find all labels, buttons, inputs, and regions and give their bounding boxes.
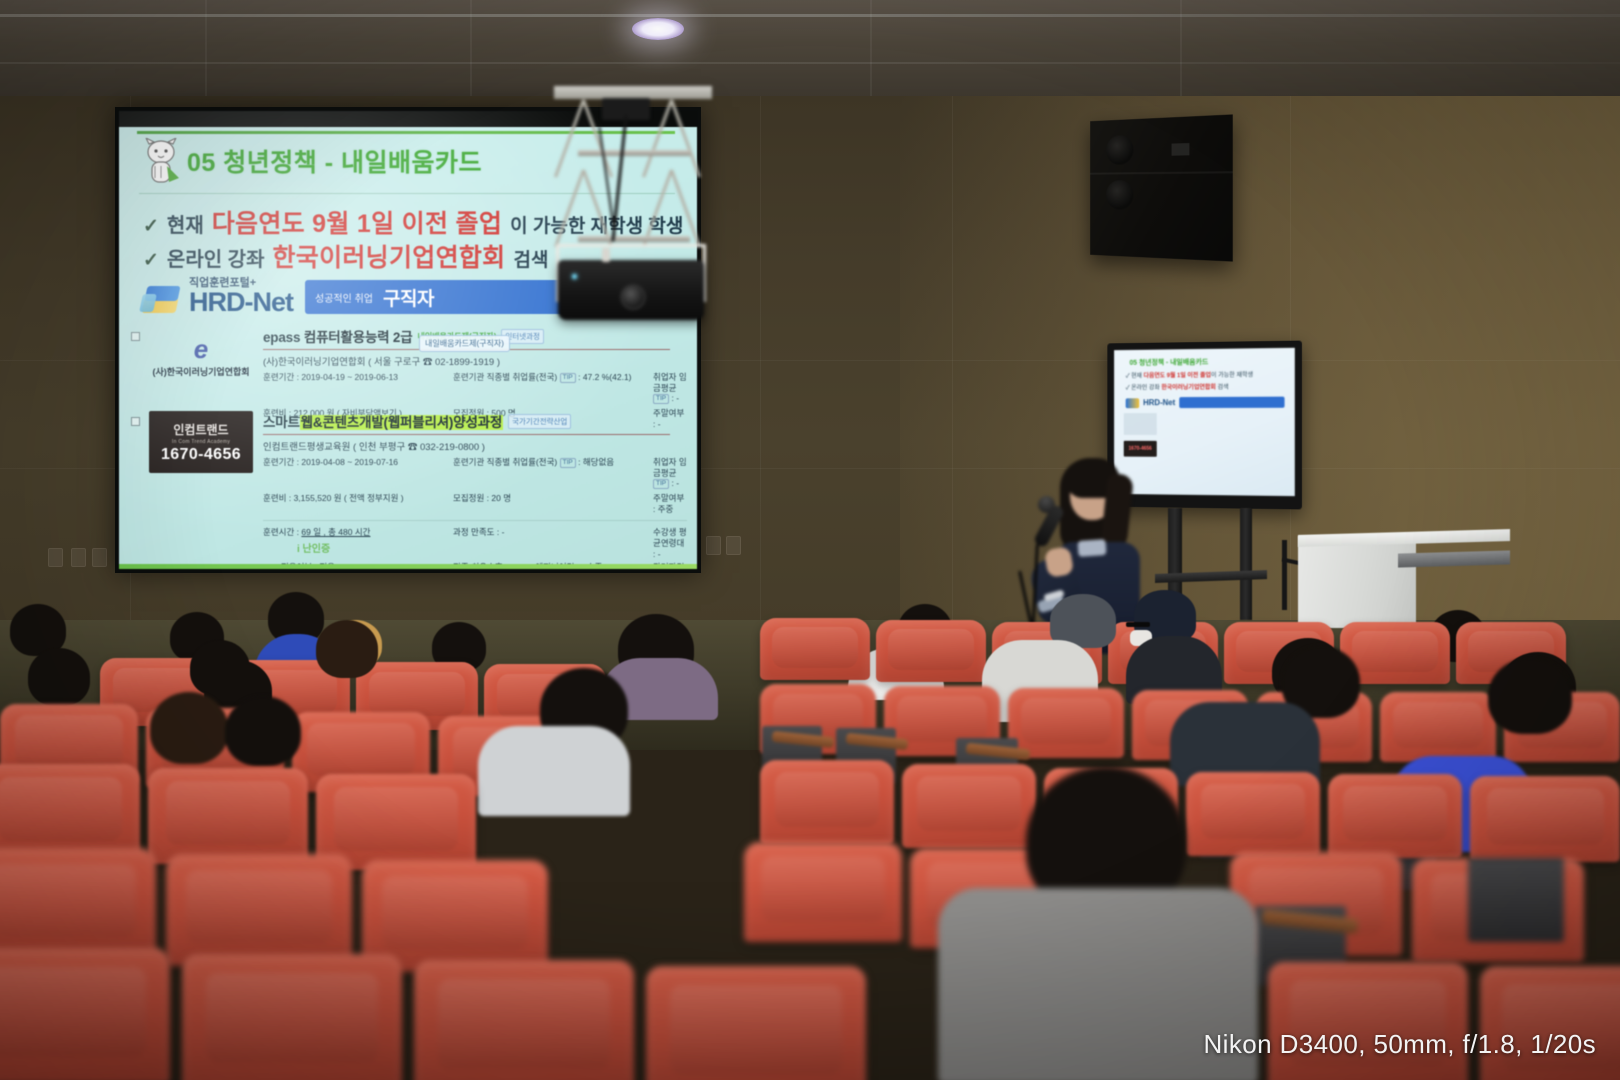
tip-icon[interactable]: TIP (560, 373, 576, 383)
wall-switch[interactable] (726, 536, 741, 555)
audience-head (225, 696, 301, 766)
hrd-banner-small: 성공적인 취업 (315, 290, 373, 305)
bullet-pre: 현재 (167, 209, 204, 238)
course-title-pre: 스마트 (263, 415, 300, 430)
course-field: 수강생 평균연령대 : - (653, 527, 687, 559)
course-field-label: 취업자 임금평균 (653, 372, 687, 393)
bullet-post: 검색 (514, 245, 549, 272)
mount-crossbar (578, 150, 690, 156)
ceiling (0, 0, 1620, 96)
ceiling-projector (558, 260, 704, 320)
projector-status-led (572, 274, 577, 279)
seat[interactable] (1328, 774, 1462, 858)
course-field: 훈련비 : 3,155,520 원 ( 전액 정부지원 ) (263, 493, 453, 514)
course-organization: 인컴트랜드평생교육원 ( 인천 부평구 ☎ 032-219-0800 ) (263, 439, 687, 453)
wall-switch[interactable] (48, 548, 63, 567)
tiger-mascot-icon (139, 138, 183, 184)
seat[interactable] (0, 948, 170, 1080)
seat[interactable] (1480, 966, 1620, 1080)
wall-panel-line (952, 96, 953, 671)
course-field-label: 모집정원 (453, 493, 484, 503)
slide-title-number: 05 (187, 149, 216, 177)
course-field-value: 주중 (658, 504, 674, 514)
course-field-value: 해당없음 (583, 457, 614, 467)
ceiling-panel-line (470, 0, 472, 96)
course-tag-box: 국가기간전략산업 (508, 414, 571, 429)
course-field: 훈련기관 직종별 취업률(전국) TIP : 해당없음 (453, 457, 653, 489)
course-provider-phone: 1670-4656 (161, 446, 241, 464)
course-checkbox[interactable] (131, 332, 140, 341)
mount-crossbar (578, 236, 690, 242)
course-field-value: 2019-04-19 ~ 2019-06-13 (301, 372, 398, 382)
course-field-label: 취업자 임금평균 (653, 457, 687, 478)
course-title[interactable]: 스마트웹&콘텐츠개발(웹퍼블리셔)양성과정 (263, 411, 503, 431)
course-provider-name: 인컴트랜드 (173, 421, 228, 438)
recessed-downlight-icon (632, 18, 684, 40)
audience-head (150, 692, 228, 764)
seat[interactable] (1380, 692, 1496, 762)
epass-e-icon: e (194, 336, 208, 362)
course-title-pre: epass (263, 330, 300, 345)
course-field: 주말여부 : 주중 (653, 493, 687, 514)
camera-info-watermark: Nikon D3400, 50mm, f/1.8, 1/20s (1204, 1029, 1597, 1060)
ceiling-panel-line (870, 0, 872, 96)
course-field-grid: 훈련기간 : 2019-04-08 ~ 2019-07-16 훈련기관 직종별 … (263, 457, 687, 514)
speaker-brand-plate (1172, 143, 1190, 156)
seat[interactable] (902, 764, 1036, 848)
check-icon: ✓ (143, 215, 159, 238)
seat[interactable] (876, 620, 986, 682)
hrd-net-mark-icon (1126, 398, 1140, 408)
course-field-value: - (676, 478, 679, 488)
course-title-main: 컴퓨터활용능력 2급 (304, 330, 413, 345)
ceiling-seam-secondary (0, 62, 1620, 64)
seat[interactable] (148, 768, 308, 864)
course-field-value: - (658, 549, 661, 559)
incomtrend-logo: 인컴트랜드 In Com Trend Academy 1670-4656 (149, 411, 253, 473)
slide-footer-brand: i 난인증 (297, 540, 330, 555)
seat[interactable] (760, 760, 894, 844)
course-organization: (사)한국이러닝기업연합회 ( 서울 구로구 ☎ 02-1899-1919 ) (263, 354, 687, 368)
scissor-arm (554, 99, 585, 177)
course-field-label: 주말여부 (653, 493, 684, 503)
course-checkbox[interactable] (131, 417, 140, 426)
seat[interactable] (1470, 776, 1620, 862)
ceiling-seam (0, 14, 1620, 17)
hrd-net-mark-icon (141, 282, 183, 316)
wall-switch[interactable] (92, 548, 107, 567)
course-field: 과정 만족도 : - (453, 527, 653, 559)
check-icon: ✓ (143, 249, 159, 272)
course-field-label: 훈련기간 (263, 372, 294, 382)
tip-icon[interactable]: TIP (560, 458, 576, 468)
display-bullet: ✓ 온라인 강좌 한국이러닝기업연합회 검색 (1114, 378, 1295, 391)
course-field-label: 과정 만족도 (453, 527, 494, 537)
ceiling-panel-line (1180, 0, 1182, 96)
speaker-driver-icon (1106, 180, 1133, 209)
projector-mount-knob (602, 248, 610, 262)
course-field-label: 훈련시간 (263, 527, 294, 537)
wall-switch[interactable] (71, 548, 86, 567)
course-field: 훈련기간 : 2019-04-08 ~ 2019-07-16 (263, 457, 453, 489)
course-field-value: 3,155,520 원 ( 전액 정부지원 ) (294, 493, 404, 503)
course-field: 취업자 임금평균 TIP : - (653, 372, 687, 404)
bullet-highlight: 한국이러닝기업연합회 (272, 238, 505, 274)
projector-lens-icon (620, 284, 646, 310)
audience-shoulders (478, 726, 630, 816)
display-provider-logo (1124, 413, 1157, 435)
slide-title-text: 청년정책 - 내일배움카드 (223, 149, 482, 177)
course-field-label: 훈련기간 (263, 457, 294, 467)
bullet-pre: 온라인 강좌 (167, 243, 265, 272)
course-field: 훈련기간 : 2019-04-19 ~ 2019-06-13 (263, 372, 453, 404)
seat[interactable] (744, 842, 902, 942)
epass-logo: e (사)한국이러닝기업연합회 (149, 326, 253, 388)
tip-icon[interactable]: TIP (653, 394, 669, 404)
audience-head (316, 620, 378, 678)
slide-title-row: 05 청년정책 - 내일배움카드 (139, 138, 482, 184)
wall-panel-line (760, 96, 761, 671)
course-field-label: 수강생 평균연령대 (653, 527, 687, 548)
course-field: 훈련시간 : 69 일 , 총 480 시간 (263, 527, 453, 559)
seat[interactable] (760, 618, 870, 680)
tip-icon[interactable]: TIP (653, 479, 669, 489)
display-result-list: 1670-4656 (1124, 413, 1285, 458)
seat[interactable] (1268, 962, 1468, 1080)
display-hrd-name: HRD-Net (1143, 398, 1175, 407)
course-title-main: 웹&콘텐츠개발(웹퍼블리셔)양성과정 (300, 415, 503, 430)
course-field-value: - (502, 527, 505, 537)
auditorium-photo: 05 청년정책 - 내일배움카드 ✓ 현재 다음연도 9월 1일 이전 졸업 이… (0, 0, 1620, 1080)
ceiling-projector-mount (548, 86, 718, 306)
course-field: 취업자 임금평균 TIP : - (653, 457, 687, 489)
scissor-arm (670, 99, 701, 177)
display-hrd-bar: HRD-Net (1126, 397, 1295, 409)
slide-bottom-rule (119, 564, 697, 569)
course-field-label: 훈련기관 직종별 취업률(전국) (453, 372, 557, 382)
speaker-seam (1090, 171, 1233, 174)
seat[interactable] (182, 954, 402, 1080)
audience-seating (0, 596, 1620, 1080)
course-field-label: 훈련기관 직종별 취업률(전국) (453, 457, 557, 467)
course-field-value: 20 명 (491, 493, 511, 503)
course-field-label: 훈련비 (263, 493, 286, 503)
audience-head (28, 648, 90, 706)
display-slide-title: 05 청년정책 - 내일배움카드 (1114, 348, 1295, 368)
seat[interactable] (166, 854, 352, 966)
audience-head (1488, 658, 1572, 734)
bullet-highlight: 다음연도 9월 1일 이전 졸업 (212, 204, 502, 240)
seat[interactable] (0, 764, 140, 860)
course-provider-logo-caption: (사)한국이러닝기업연합회 (152, 365, 249, 378)
course-section-separator (263, 520, 687, 521)
slide-title: 05 청년정책 - 내일배움카드 (187, 143, 482, 179)
display-hrd-banner (1179, 397, 1284, 408)
course-tooltip: 내일배움카드제(구직자) (419, 335, 510, 352)
hrd-net-logo: 직업훈련포털+ HRD-Net (141, 278, 293, 316)
seat[interactable] (646, 966, 866, 1080)
eyeglasses-icon (1126, 622, 1150, 627)
course-field-value: 2019-04-08 ~ 2019-07-16 (301, 457, 398, 467)
speaker-driver-icon (1106, 135, 1133, 165)
course-result-row[interactable]: 인컴트랜드 In Com Trend Academy 1670-4656 스마트… (131, 411, 687, 569)
wall-speaker (1090, 114, 1233, 261)
seat[interactable] (0, 848, 156, 960)
course-field: 훈련기관 직종별 취업률(전국) TIP : 47.2 %(42.1) (453, 372, 653, 404)
wall-switch[interactable] (706, 536, 721, 555)
ceiling-panel-line (205, 0, 207, 96)
hrd-net-name: HRD-Net (189, 289, 293, 316)
seat[interactable] (1186, 772, 1320, 856)
course-title-underline (263, 434, 670, 435)
seat-side-panel (1468, 858, 1564, 942)
hrd-banner-big: 구직자 (383, 284, 434, 311)
seat[interactable] (414, 960, 634, 1080)
slide-bullet: ✓ 온라인 강좌 한국이러닝기업연합회 검색 (143, 238, 548, 274)
course-field: 모집정원 : 20 명 (453, 493, 653, 514)
seat[interactable] (1008, 688, 1124, 758)
display-result-row (1124, 413, 1285, 435)
course-provider-name-en: In Com Trend Academy (172, 439, 230, 445)
course-field-value[interactable]: 69 일 , 총 480 시간 (301, 527, 370, 537)
course-field-value: - (676, 393, 679, 403)
course-field-value: 47.2 %(42.1) (583, 372, 632, 382)
course-title[interactable]: epass 컴퓨터활용능력 2급 (263, 326, 412, 346)
presenter-collar (1077, 539, 1106, 557)
